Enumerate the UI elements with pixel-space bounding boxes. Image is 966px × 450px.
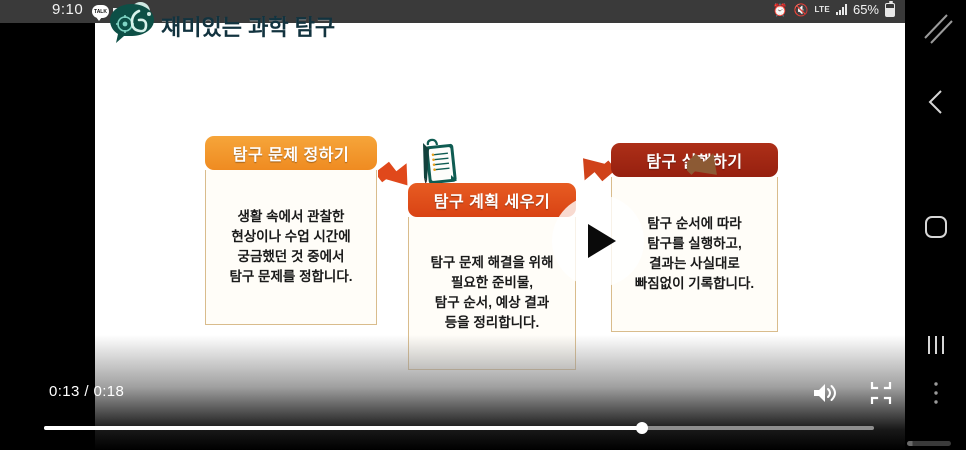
flow-box-1-body: 생활 속에서 관찰한 현상이나 수업 시간에 궁금했던 것 중에서 탐구 문제를… bbox=[205, 170, 377, 325]
flow-box-2: 탐구 계획 세우기 탐구 문제 해결을 위해 필요한 준비물, 탐구 순서, 예… bbox=[408, 183, 576, 370]
alarm-icon: ⏰ bbox=[773, 4, 788, 16]
back-chevron-icon[interactable] bbox=[905, 82, 966, 122]
flow-box-3-line-1: 탐구 순서에 따라 bbox=[635, 214, 754, 234]
flow-box-2-header: 탐구 계획 세우기 bbox=[408, 183, 576, 217]
signal-bars-icon bbox=[836, 4, 847, 15]
arrow-down-right-3 bbox=[687, 145, 737, 193]
flow-box-1-header: 탐구 문제 정하기 bbox=[205, 136, 377, 170]
flow-box-1: 탐구 문제 정하기 생활 속에서 관찰한 현상이나 수업 시간에 궁금했던 것 … bbox=[205, 136, 377, 325]
flow-box-1-line-4: 탐구 문제를 정합니다. bbox=[229, 267, 352, 287]
flow-box-2-line-2: 필요한 준비물, bbox=[430, 273, 553, 293]
phone-screen: 9:10 TALK b ⏰ 🔇 LTE 65% 탐구 문제 정하기 생활 속에서… bbox=[0, 0, 966, 450]
play-button[interactable] bbox=[552, 195, 644, 287]
edge-panel-handle-icon[interactable] bbox=[905, 10, 966, 56]
play-triangle-icon bbox=[588, 224, 616, 258]
navigation-rail bbox=[905, 0, 966, 450]
network-type-label: LTE bbox=[815, 5, 830, 14]
status-clock: 9:10 bbox=[52, 1, 83, 18]
progress-handle[interactable] bbox=[636, 422, 648, 434]
home-square-icon[interactable] bbox=[905, 205, 966, 249]
rail-indicator bbox=[907, 441, 951, 446]
flow-box-2-line-3: 탐구 순서, 예상 결과 bbox=[430, 293, 553, 313]
flow-box-1-line-2: 현상이나 수업 시간에 bbox=[229, 227, 352, 247]
volume-button[interactable] bbox=[812, 381, 840, 405]
flow-box-3-line-3: 결과는 사실대로 bbox=[635, 254, 754, 274]
slide-title: 재미있는 과학 탐구 bbox=[161, 10, 335, 42]
flow-box-2-line-1: 탐구 문제 해결을 위해 bbox=[430, 253, 553, 273]
flow-box-2-body: 탐구 문제 해결을 위해 필요한 준비물, 탐구 순서, 예상 결과 등을 정리… bbox=[408, 217, 576, 370]
talk-bubble-icon: TALK bbox=[92, 5, 109, 18]
volume-on-icon bbox=[812, 381, 840, 405]
flow-box-3-line-2: 탐구를 실행하고, bbox=[635, 234, 754, 254]
time-display: 0:13 / 0:18 bbox=[49, 383, 124, 400]
status-right-icons: ⏰ 🔇 LTE 65% bbox=[773, 2, 895, 17]
overflow-dots-icon[interactable] bbox=[905, 375, 966, 411]
flow-box-3-line-4: 빠짐없이 기록합니다. bbox=[635, 274, 754, 294]
exit-fullscreen-icon bbox=[869, 382, 893, 404]
flow-box-2-line-4: 등을 정리합니다. bbox=[430, 313, 553, 333]
player-controls: 0:13 / 0:18 bbox=[0, 370, 905, 450]
progress-bar[interactable] bbox=[44, 419, 874, 437]
recents-bars-icon[interactable] bbox=[905, 325, 966, 365]
science-chat-badge-icon bbox=[108, 2, 156, 44]
flow-box-1-line-1: 생활 속에서 관찰한 bbox=[229, 207, 352, 227]
battery-icon bbox=[885, 3, 895, 17]
progress-fill bbox=[44, 426, 642, 430]
mute-icon: 🔇 bbox=[794, 4, 809, 16]
fullscreen-button[interactable] bbox=[869, 382, 893, 404]
flow-box-1-line-3: 궁금했던 것 중에서 bbox=[229, 247, 352, 267]
battery-percent-label: 65% bbox=[853, 2, 879, 17]
